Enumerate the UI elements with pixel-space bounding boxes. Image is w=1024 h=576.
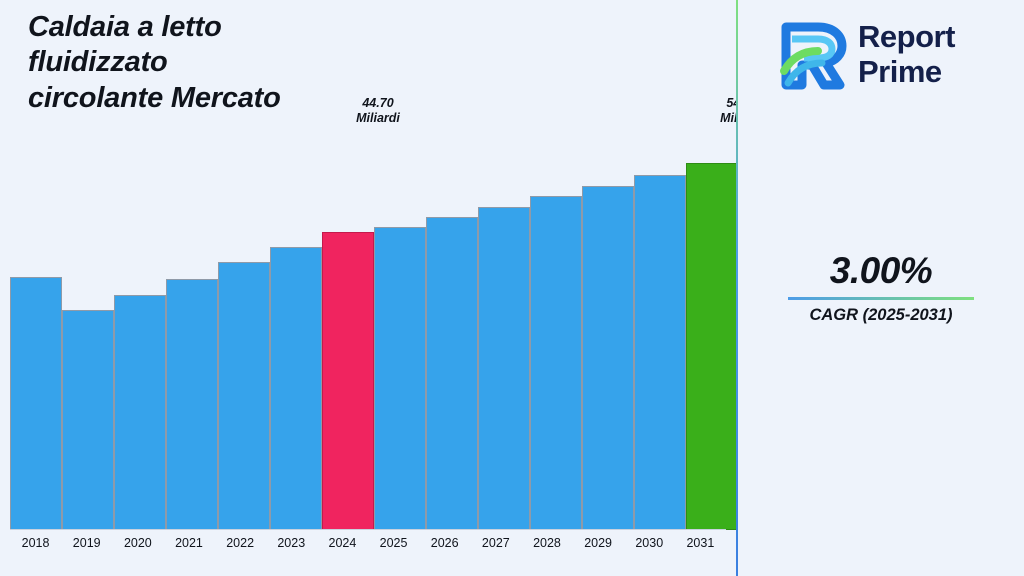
x-tick-label: 2018 bbox=[10, 536, 61, 558]
x-tick-label: 2024 bbox=[317, 536, 368, 558]
bar: 44.70 Miliardi bbox=[322, 232, 374, 530]
cagr-divider bbox=[788, 297, 974, 300]
bar bbox=[114, 295, 166, 530]
bar bbox=[478, 207, 530, 530]
x-tick-label: 2021 bbox=[163, 536, 214, 558]
report-prime-logo-icon bbox=[778, 21, 850, 91]
bar bbox=[374, 227, 426, 530]
bar-slot: 44.70 Miliardi bbox=[322, 130, 374, 530]
bar-slot bbox=[166, 130, 218, 530]
cagr-value: 3.00% bbox=[738, 250, 1024, 292]
bar-chart-plot: 44.70 Miliardi54.98 Miliardi bbox=[0, 130, 736, 530]
x-axis-tick-labels: 2018201920202021202220232024202520262027… bbox=[10, 536, 726, 558]
bar-value-label: 44.70 Miliardi bbox=[323, 96, 433, 125]
bar-slot bbox=[270, 130, 322, 530]
bar bbox=[634, 175, 686, 530]
bar-slot bbox=[530, 130, 582, 530]
bar-slot bbox=[634, 130, 686, 530]
x-tick-label: 2028 bbox=[521, 536, 572, 558]
bar-slot bbox=[62, 130, 114, 530]
x-tick-label: 2020 bbox=[112, 536, 163, 558]
bar bbox=[218, 262, 270, 530]
chart-panel: Caldaia a letto fluidizzato circolante M… bbox=[0, 0, 736, 576]
bar-slot bbox=[478, 130, 530, 530]
bar: 54.98 Miliardi bbox=[686, 163, 738, 530]
bar-slot bbox=[218, 130, 270, 530]
bar bbox=[10, 277, 62, 530]
x-tick-label: 2019 bbox=[61, 536, 112, 558]
x-tick-label: 2031 bbox=[675, 536, 726, 558]
x-tick-label: 2029 bbox=[573, 536, 624, 558]
bar bbox=[530, 196, 582, 530]
brand-logo: Report Prime bbox=[778, 18, 1004, 96]
bar-slot bbox=[582, 130, 634, 530]
bar-series: 44.70 Miliardi54.98 Miliardi bbox=[10, 130, 726, 530]
x-tick-label: 2023 bbox=[266, 536, 317, 558]
brand-panel: Report Prime 3.00% CAGR (2025-2031) bbox=[738, 0, 1024, 576]
bar-slot bbox=[426, 130, 478, 530]
brand-name: Report Prime bbox=[858, 20, 955, 89]
x-tick-label: 2025 bbox=[368, 536, 419, 558]
bar-slot bbox=[10, 130, 62, 530]
cagr-caption: CAGR (2025-2031) bbox=[738, 306, 1024, 325]
x-tick-label: 2027 bbox=[470, 536, 521, 558]
bar bbox=[270, 247, 322, 530]
x-axis-line bbox=[10, 529, 726, 530]
chart-page: Caldaia a letto fluidizzato circolante M… bbox=[0, 0, 1024, 576]
bar bbox=[62, 310, 114, 530]
cagr-block: 3.00% CAGR (2025-2031) bbox=[738, 250, 1024, 325]
bar bbox=[426, 217, 478, 530]
bar bbox=[166, 279, 218, 530]
bar bbox=[582, 186, 634, 530]
x-tick-label: 2022 bbox=[215, 536, 266, 558]
x-tick-label: 2026 bbox=[419, 536, 470, 558]
bar-slot: 54.98 Miliardi bbox=[686, 130, 738, 530]
x-tick-label: 2030 bbox=[624, 536, 675, 558]
bar-slot bbox=[374, 130, 426, 530]
page-title: Caldaia a letto fluidizzato circolante M… bbox=[28, 10, 281, 116]
bar-slot bbox=[114, 130, 166, 530]
